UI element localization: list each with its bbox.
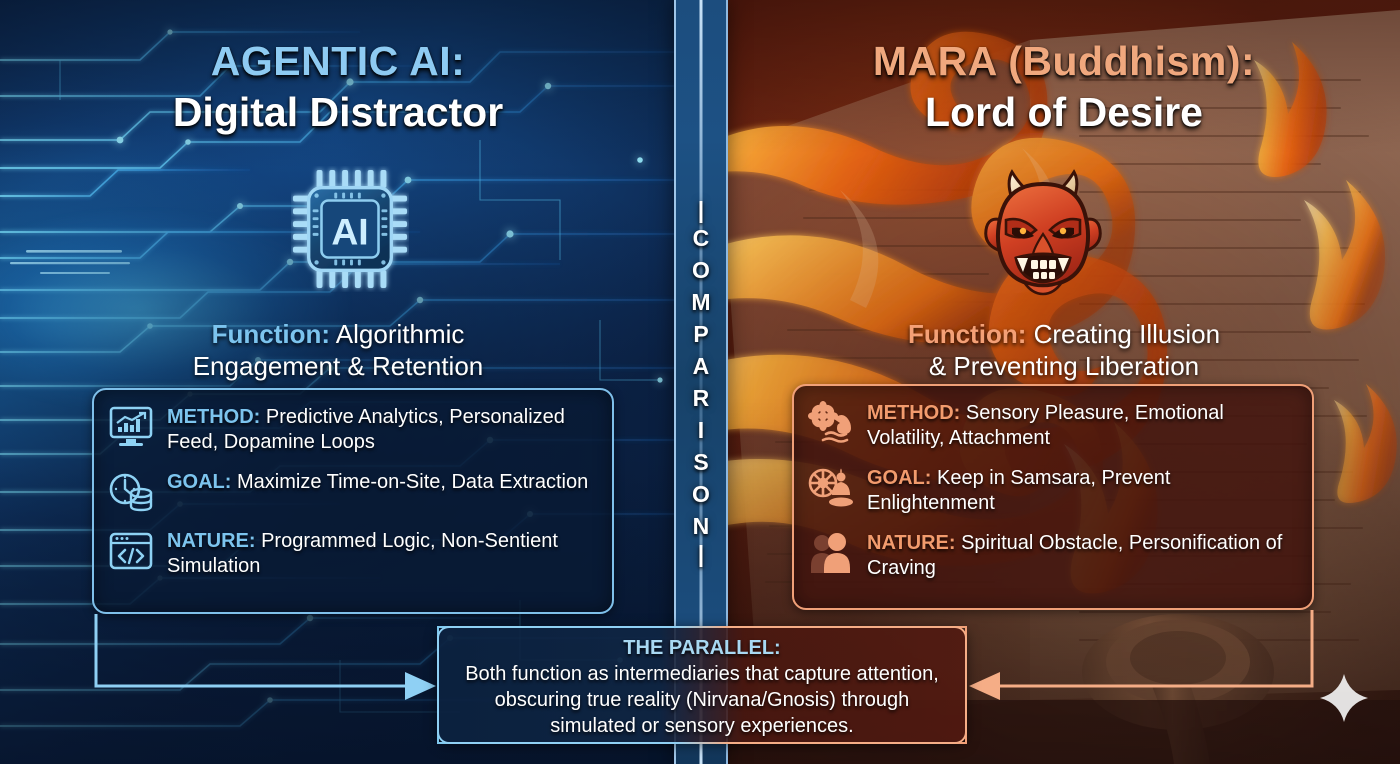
right-row-nature: NATURE: Spiritual Obstacle, Personificat… bbox=[808, 530, 1296, 581]
right-row-method-key: METHOD: bbox=[867, 402, 960, 424]
lotus-wave-icon bbox=[808, 401, 854, 445]
divider-letter: I bbox=[698, 415, 704, 445]
divider-letter: O bbox=[692, 255, 710, 285]
right-row-nature-text: NATURE: Spiritual Obstacle, Personificat… bbox=[867, 530, 1296, 581]
left-attributes-box: METHOD: Predictive Analytics, Personaliz… bbox=[92, 388, 614, 614]
left-function-line1: Function: Algorithmic bbox=[0, 318, 676, 350]
divider-letter: C bbox=[693, 223, 710, 253]
right-row-goal-key: GOAL: bbox=[867, 467, 931, 489]
right-row-method-text: METHOD: Sensory Pleasure, Emotional Vola… bbox=[867, 400, 1296, 451]
divider-letter: S bbox=[693, 447, 708, 477]
oni-demon-mask-icon bbox=[982, 168, 1104, 296]
comparison-label: | C O M P A R I S O N | bbox=[691, 199, 710, 565]
left-title-line1: AGENTIC AI: bbox=[0, 36, 676, 86]
right-row-method: METHOD: Sensory Pleasure, Emotional Vola… bbox=[808, 400, 1296, 451]
left-row-goal-key: GOAL: bbox=[167, 471, 231, 493]
left-row-method: METHOD: Predictive Analytics, Personaliz… bbox=[108, 404, 596, 455]
analytics-monitor-icon bbox=[108, 405, 154, 449]
left-function-line2: Engagement & Retention bbox=[0, 350, 676, 382]
left-function-value: Algorithmic bbox=[330, 319, 464, 349]
left-row-goal-value: Maximize Time-on-Site, Data Extraction bbox=[231, 471, 588, 493]
right-title-line2: Lord of Desire bbox=[728, 86, 1400, 138]
right-title-block: MARA (Buddhism): Lord of Desire bbox=[728, 36, 1400, 138]
left-row-goal-text: GOAL: Maximize Time-on-Site, Data Extrac… bbox=[167, 469, 588, 495]
divider-dash-bottom: | bbox=[698, 543, 704, 565]
right-title-line1: MARA (Buddhism): bbox=[728, 36, 1400, 86]
right-function-line2: & Preventing Liberation bbox=[728, 350, 1400, 382]
left-row-nature-key: NATURE: bbox=[167, 530, 256, 552]
left-function-block: Function: Algorithmic Engagement & Reten… bbox=[0, 318, 676, 382]
parallel-title: THE PARALLEL: bbox=[453, 636, 951, 661]
the-parallel-box: THE PARALLEL: Both function as intermedi… bbox=[437, 626, 967, 744]
divider-letter: N bbox=[693, 511, 710, 541]
left-row-goal: GOAL: Maximize Time-on-Site, Data Extrac… bbox=[108, 469, 596, 514]
right-function-line1: Function: Creating Illusion bbox=[728, 318, 1400, 350]
clock-database-icon bbox=[108, 470, 154, 514]
left-row-nature: NATURE: Programmed Logic, Non-Sentient S… bbox=[108, 528, 596, 579]
infographic-canvas: | C O M P A R I S O N | AGENTIC AI: Digi… bbox=[0, 0, 1400, 764]
divider-letter: A bbox=[693, 351, 710, 381]
left-row-method-text: METHOD: Predictive Analytics, Personaliz… bbox=[167, 404, 596, 455]
right-function-key: Function: bbox=[908, 319, 1026, 349]
ai-chip-icon: AI bbox=[291, 166, 409, 292]
left-row-nature-text: NATURE: Programmed Logic, Non-Sentient S… bbox=[167, 528, 596, 579]
right-row-goal-text: GOAL: Keep in Samsara, Prevent Enlighten… bbox=[867, 465, 1296, 516]
divider-letter: O bbox=[692, 479, 710, 509]
ai-chip-label: AI bbox=[331, 211, 368, 253]
left-function-key: Function: bbox=[212, 319, 330, 349]
divider-letter: P bbox=[693, 319, 708, 349]
divider-dash-top: | bbox=[698, 199, 704, 221]
dharma-wheel-buddha-icon bbox=[808, 466, 854, 510]
left-title-block: AGENTIC AI: Digital Distractor bbox=[0, 36, 676, 138]
two-people-silhouette-icon bbox=[808, 531, 854, 575]
code-window-icon bbox=[108, 529, 154, 573]
parallel-body: Both function as intermediaries that cap… bbox=[453, 661, 951, 739]
right-row-goal: GOAL: Keep in Samsara, Prevent Enlighten… bbox=[808, 465, 1296, 516]
right-function-block: Function: Creating Illusion & Preventing… bbox=[728, 318, 1400, 382]
right-function-value: Creating Illusion bbox=[1026, 319, 1220, 349]
left-title-line2: Digital Distractor bbox=[0, 86, 676, 138]
divider-letter: R bbox=[693, 383, 710, 413]
sparkle-star-icon bbox=[1318, 672, 1370, 724]
left-row-method-key: METHOD: bbox=[167, 406, 260, 428]
right-row-nature-key: NATURE: bbox=[867, 532, 956, 554]
divider-letter: M bbox=[691, 287, 710, 317]
right-attributes-box: METHOD: Sensory Pleasure, Emotional Vola… bbox=[792, 384, 1314, 610]
